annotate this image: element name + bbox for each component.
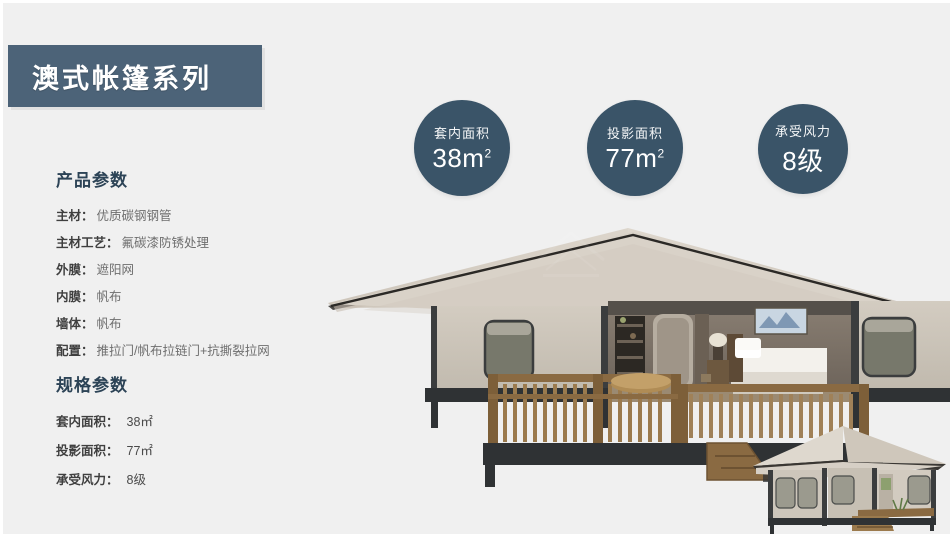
stat-circle-label: 投影面积: [607, 123, 663, 142]
stat-circle-wind-resistance: 承受风力 8级: [758, 104, 848, 194]
param-value: 帆布: [97, 317, 122, 331]
page-title: 澳式帐篷系列: [32, 57, 212, 96]
param-key: 主材：: [56, 209, 94, 223]
spec-value: 8级: [127, 473, 146, 487]
spec-value: 77㎡: [127, 444, 153, 458]
param-value: 遮阳网: [97, 263, 135, 277]
spec-key: 承受风力：: [56, 473, 119, 487]
param-value: 优质碳钢钢管: [97, 209, 172, 223]
param-value: 氟碳漆防锈处理: [122, 236, 210, 250]
title-banner: 澳式帐篷系列: [8, 45, 262, 107]
param-key: 主材工艺：: [56, 236, 119, 250]
param-key: 外膜：: [56, 263, 94, 277]
param-value: 推拉门/帆布拉链门+抗撕裂拉网: [97, 344, 270, 358]
spec-value: 38㎡: [127, 415, 153, 429]
stat-circle-value: 77m2: [605, 143, 664, 174]
param-key: 墙体：: [56, 317, 94, 331]
stat-circle-projected-area: 投影面积 77m2: [587, 100, 683, 196]
spec-key: 套内面积：: [56, 415, 119, 429]
stat-circle-value: 8级: [782, 141, 823, 178]
param-key: 配置：: [56, 344, 94, 358]
stat-circle-label: 承受风力: [775, 121, 831, 140]
stat-circle-value: 38m2: [432, 143, 491, 174]
stat-circle-interior-area: 套内面积 38m2: [414, 100, 510, 196]
stat-circle-label: 套内面积: [434, 123, 490, 142]
thumbnail-tent-photo: [748, 418, 950, 534]
param-value: 帆布: [97, 290, 122, 304]
slide-canvas: 澳式帐篷系列 产品参数 主材：优质碳钢钢管 主材工艺：氟碳漆防锈处理 外膜：遮阳…: [0, 0, 950, 534]
spec-key: 投影面积：: [56, 444, 119, 458]
param-key: 内膜：: [56, 290, 94, 304]
